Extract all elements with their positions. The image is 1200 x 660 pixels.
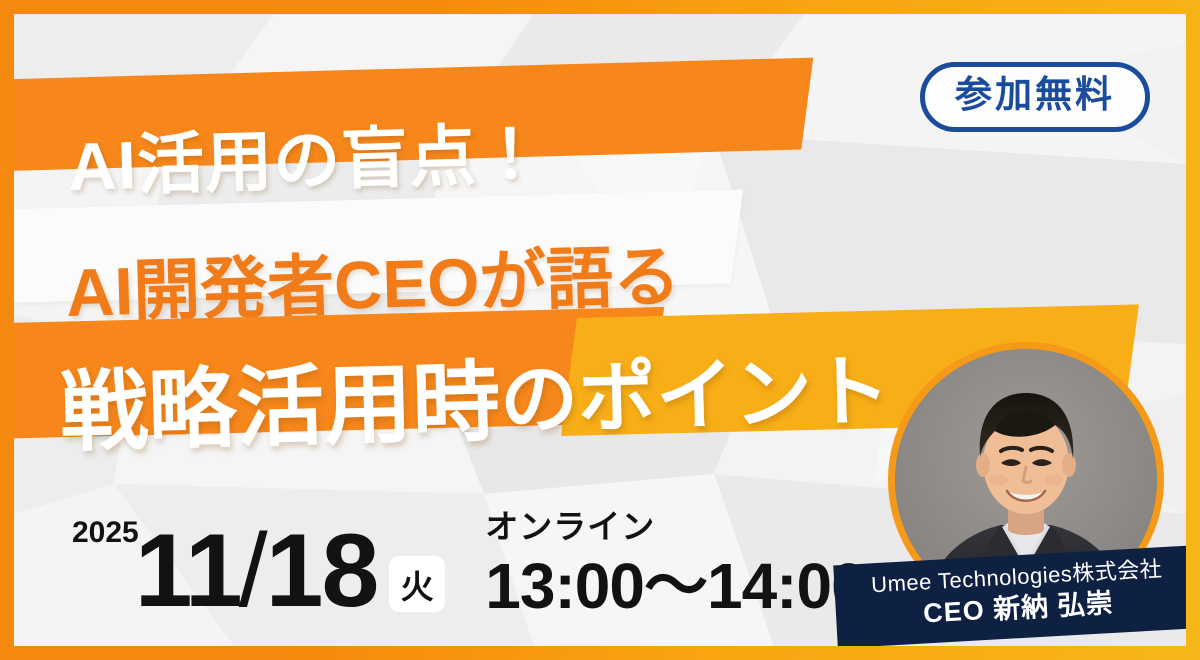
event-month: 11 [135, 524, 241, 620]
webinar-banner: AI活用の盲点！ AI開発者CEOが語る 戦略活用時のポイント 参加無料 202… [0, 0, 1200, 660]
free-participation-badge: 参加無料 [920, 62, 1150, 132]
event-year: 2025 [72, 518, 139, 548]
headline-line-3-tail: のポイント [499, 329, 892, 450]
date-separator: / [239, 524, 268, 620]
event-info-row: 2025 11 / 18 火 オンライン 13:00〜14:00 [72, 500, 866, 620]
headline-line-3-main: 戦略活用時 [58, 331, 501, 469]
venue-label: オンライン [485, 500, 865, 548]
event-date: 2025 11 / 18 火 [72, 518, 445, 620]
banner-canvas: AI活用の盲点！ AI開発者CEOが語る 戦略活用時のポイント 参加無料 202… [14, 14, 1186, 646]
day-of-week-badge: 火 [389, 556, 445, 612]
event-day: 18 [266, 524, 378, 620]
event-time: 13:00〜14:00 [485, 554, 865, 618]
event-venue-time: オンライン 13:00〜14:00 [485, 500, 865, 618]
